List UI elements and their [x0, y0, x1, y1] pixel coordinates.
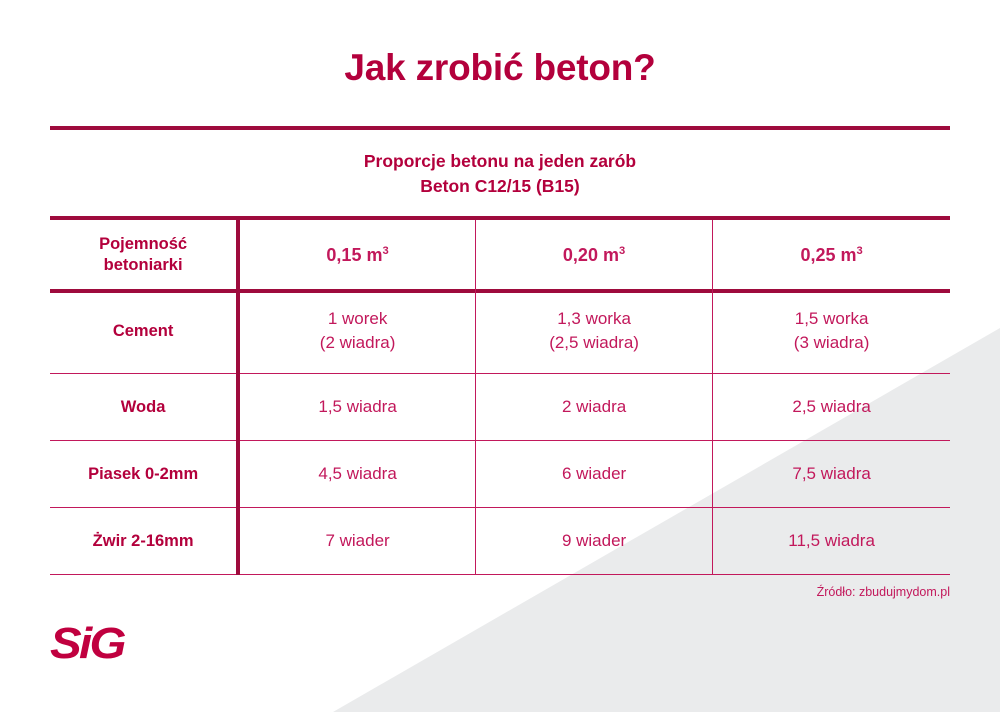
- header-volume-3-exponent: 3: [857, 245, 863, 257]
- cell-woda-col2: 2 wiadra: [475, 374, 712, 441]
- cell-cement-col1-line2: (2 wiadra): [240, 331, 475, 355]
- cell-cement-col1-line1: 1 worek: [240, 307, 475, 331]
- header-volume-3-value: 0,25: [800, 245, 835, 265]
- row-label-woda: Woda: [50, 374, 238, 441]
- cell-piasek-col3: 7,5 wiadra: [713, 441, 950, 508]
- cell-cement-col2: 1,3 worka (2,5 wiadra): [475, 289, 712, 374]
- cell-piasek-col1: 4,5 wiadra: [238, 441, 475, 508]
- header-volume-2-unit: m: [603, 245, 619, 265]
- cell-zwir-col3: 11,5 wiadra: [713, 508, 950, 575]
- cell-zwir-col1: 7 wiader: [238, 508, 475, 575]
- cell-cement-col2-line1: 1,3 worka: [476, 307, 712, 331]
- row-label-piasek: Piasek 0-2mm: [50, 441, 238, 508]
- row-label-cement: Cement: [50, 289, 238, 374]
- divider-top-rule: [50, 126, 950, 130]
- header-capacity-line-1: Pojemność: [50, 234, 236, 255]
- cell-woda-col3: 2,5 wiadra: [713, 374, 950, 441]
- cell-cement-col2-line2: (2,5 wiadra): [476, 331, 712, 355]
- cell-cement-col1: 1 worek (2 wiadra): [238, 289, 475, 374]
- header-volume-1-value: 0,15: [326, 245, 361, 265]
- cell-piasek-col2: 6 wiader: [475, 441, 712, 508]
- subtitle-line-1: Proporcje betonu na jeden zarób: [0, 149, 1000, 174]
- cell-woda-col1: 1,5 wiadra: [238, 374, 475, 441]
- header-cell-volume-1: 0,15 m3: [238, 220, 475, 289]
- cell-zwir-col2: 9 wiader: [475, 508, 712, 575]
- cell-cement-col3: 1,5 worka (3 wiadra): [713, 289, 950, 374]
- subtitle-line-2: Beton C12/15 (B15): [0, 174, 1000, 199]
- table-row: Woda 1,5 wiadra 2 wiadra 2,5 wiadra: [50, 374, 950, 441]
- concrete-proportions-table: Pojemność betoniarki 0,15 m3 0,20 m3 0,2…: [50, 220, 950, 575]
- cell-cement-col3-line2: (3 wiadra): [713, 331, 950, 355]
- sig-logo: SiG: [50, 620, 160, 668]
- header-volume-2-exponent: 3: [619, 245, 625, 257]
- header-cell-volume-3: 0,25 m3: [713, 220, 950, 289]
- header-volume-1-exponent: 3: [383, 245, 389, 257]
- table-row: Piasek 0-2mm 4,5 wiadra 6 wiader 7,5 wia…: [50, 441, 950, 508]
- infographic-canvas: Jak zrobić beton? Proporcje betonu na je…: [0, 0, 1000, 712]
- sig-logo-text: SiG: [50, 620, 124, 668]
- header-volume-3-unit: m: [841, 245, 857, 265]
- header-cell-capacity: Pojemność betoniarki: [50, 220, 238, 289]
- header-capacity-line-2: betoniarki: [50, 255, 236, 276]
- header-volume-2-value: 0,20: [563, 245, 598, 265]
- row-label-zwir: Żwir 2-16mm: [50, 508, 238, 575]
- table-header-row: Pojemność betoniarki 0,15 m3 0,20 m3 0,2…: [50, 220, 950, 289]
- cell-cement-col3-line1: 1,5 worka: [713, 307, 950, 331]
- header-volume-1-unit: m: [366, 245, 382, 265]
- table-row: Cement 1 worek (2 wiadra) 1,3 worka (2,5…: [50, 289, 950, 374]
- subtitle-block: Proporcje betonu na jeden zarób Beton C1…: [0, 149, 1000, 199]
- table-row: Żwir 2-16mm 7 wiader 9 wiader 11,5 wiadr…: [50, 508, 950, 575]
- source-attribution: Źródło: zbudujmydom.pl: [817, 585, 950, 599]
- page-title: Jak zrobić beton?: [0, 46, 1000, 90]
- header-cell-volume-2: 0,20 m3: [475, 220, 712, 289]
